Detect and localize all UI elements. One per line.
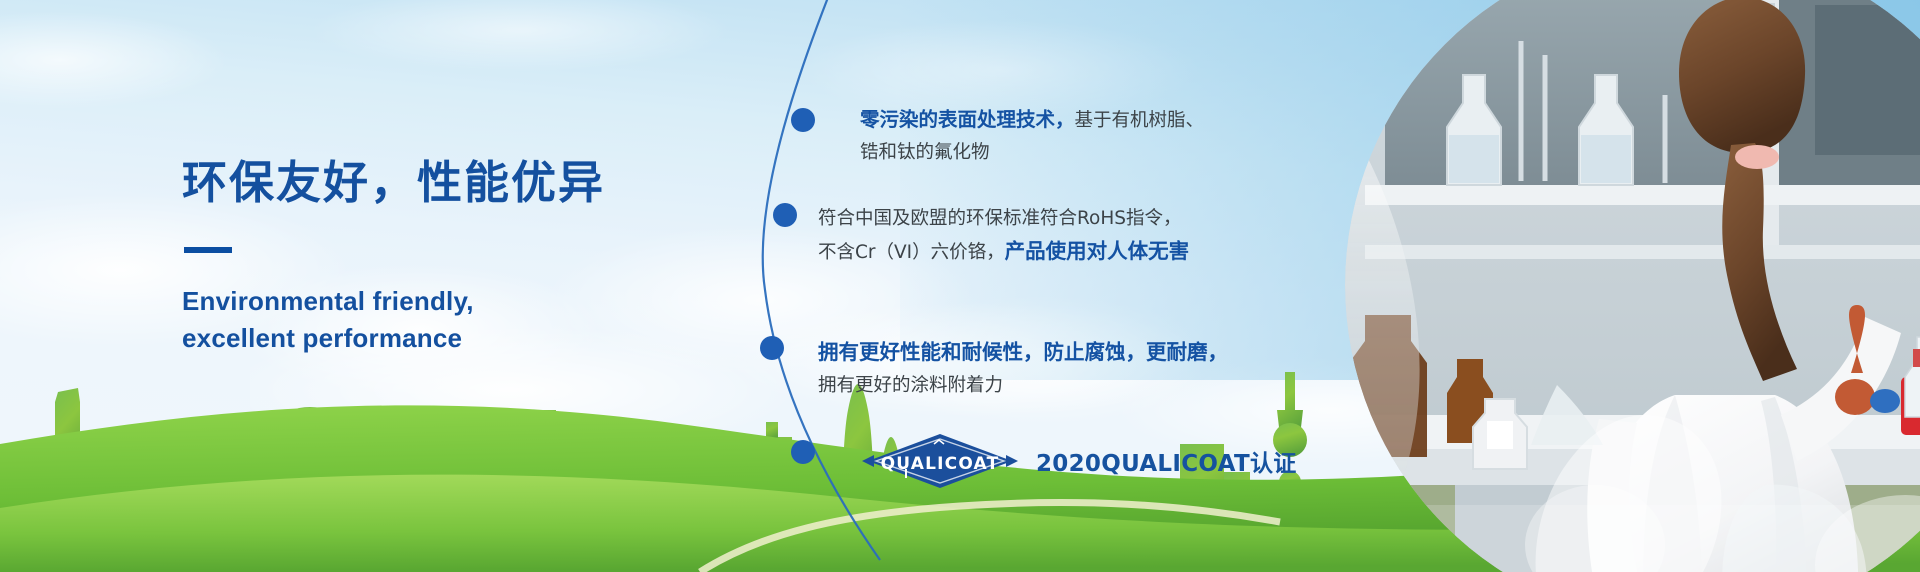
bullet-2-line-1: 符合中国及欧盟的环保标准符合RoHS指令， [818,203,1189,235]
page-title-en: Environmental friendly, excellent perfor… [182,283,742,357]
bullet-2-line-1-normal: 符合中国及欧盟的环保标准符合RoHS指令， [818,208,1182,229]
bullet-2-line-2: 不含Cr（VI）六价铬，产品使用对人体无害 [818,235,1189,269]
bullet-2-line-2-strong: 产品使用对人体无害 [1005,239,1190,263]
qualicoat-logo-text: QUALICOAT [881,454,1000,474]
certification-row: QUALICOAT 2020QUALICOAT认证 [860,432,1297,490]
banner-stage: 环保友好，性能优异 Environmental friendly, excell… [0,0,1920,572]
bullet-3-line-2-normal: 拥有更好的涂料附着力 [818,375,1003,396]
headline-block: 环保友好，性能优异 Environmental friendly, excell… [182,155,742,357]
bullet-dot-4[interactable] [791,440,815,464]
title-divider [184,247,232,253]
bullet-item-2: 符合中国及欧盟的环保标准符合RoHS指令， 不含Cr（VI）六价铬，产品使用对人… [818,203,1189,269]
bullet-3-line-2: 拥有更好的涂料附着力 [818,370,1228,402]
bullet-item-1: 零污染的表面处理技术，基于有机树脂、 锆和钛的氟化物 [860,104,1204,169]
page-title-cn: 环保友好，性能优异 [182,155,742,211]
bullet-2-line-2-normal: 不含Cr（VI）六价铬， [818,242,1005,263]
certification-label: 2020QUALICOAT认证 [1036,444,1297,478]
bullet-item-3: 拥有更好性能和耐候性，防止腐蚀，更耐磨， 拥有更好的涂料附着力 [818,336,1228,402]
bullet-3-line-1-strong: 拥有更好性能和耐候性，防止腐蚀，更耐磨， [818,340,1228,364]
page-title-en-line1: Environmental friendly, [182,283,742,320]
bullet-dot-1[interactable] [791,108,815,132]
bullet-1-line-2-normal: 锆和钛的氟化物 [860,142,990,163]
bullet-dot-3[interactable] [760,336,784,360]
qualicoat-logo-icon: QUALICOAT [860,432,1020,490]
bullet-1-line-1: 零污染的表面处理技术，基于有机树脂、 [860,104,1204,137]
bullet-1-line-1-strong: 零污染的表面处理技术， [860,108,1075,131]
page-title-en-line2: excellent performance [182,320,742,357]
lab-photo [1345,0,1920,572]
bullet-1-line-1-normal: 基于有机树脂、 [1075,110,1205,131]
bullet-dot-2[interactable] [773,203,797,227]
bullet-1-line-2: 锆和钛的氟化物 [860,137,1204,169]
bullet-3-line-1: 拥有更好性能和耐候性，防止腐蚀，更耐磨， [818,336,1228,370]
